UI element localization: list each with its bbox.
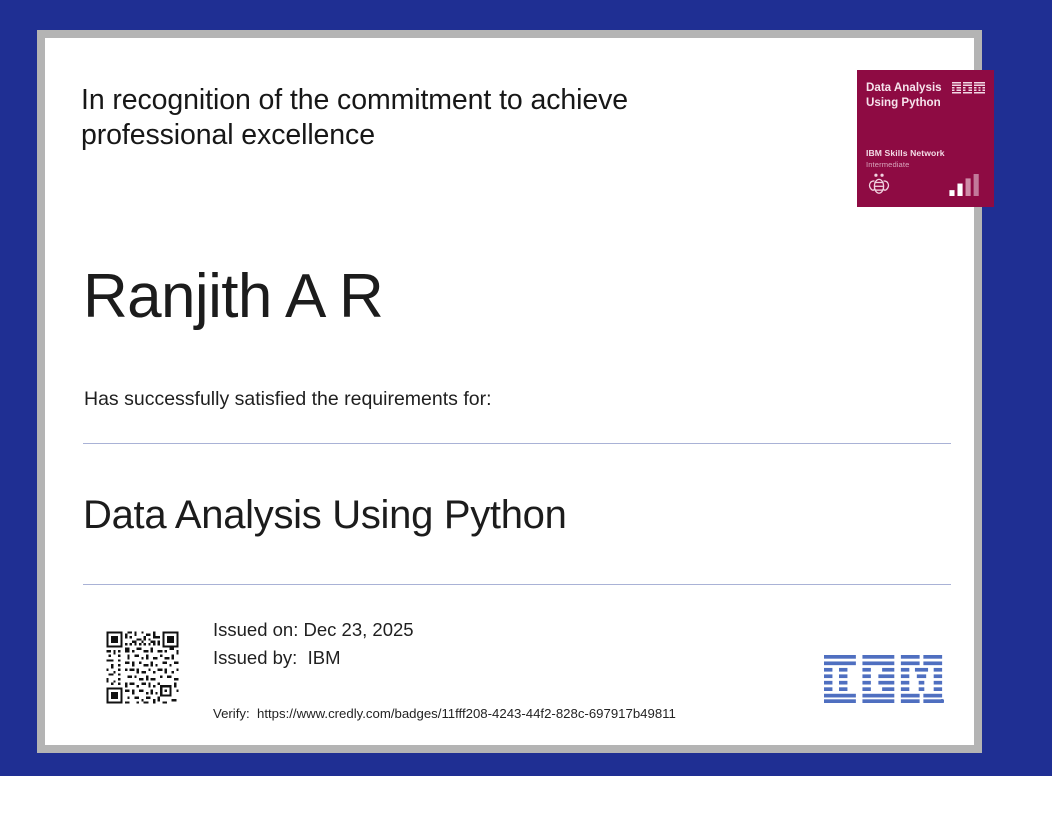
qr-code[interactable] (104, 629, 181, 706)
ibm-logo-icon (952, 82, 985, 95)
course-title: Data Analysis Using Python (83, 493, 567, 537)
issued-on-row: Issued on: Dec 23, 2025 (213, 616, 414, 644)
recipient-name: Ranjith A R (83, 266, 383, 328)
issue-metadata: Issued on: Dec 23, 2025 Issued by: IBM (213, 616, 414, 672)
divider-bottom (83, 584, 951, 585)
certificate-card-inner: In recognition of the commitment to achi… (45, 38, 974, 745)
divider-top (83, 443, 951, 444)
issued-by-row: Issued by: IBM (213, 644, 414, 672)
issued-on-value: Dec 23, 2025 (304, 619, 414, 640)
requirements-statement: Has successfully satisfied the requireme… (84, 388, 492, 411)
verify-label: Verify: (213, 706, 250, 721)
certificate-page: In recognition of the commitment to achi… (0, 0, 1052, 813)
certificate-card: In recognition of the commitment to achi… (37, 30, 982, 753)
badge-title: Data Analysis Using Python (866, 80, 956, 111)
issued-on-label: Issued on: (213, 619, 298, 640)
ibm-logo-icon (824, 655, 944, 703)
badge-level-label: Intermediate (866, 160, 909, 169)
verify-row: Verify: https://www.credly.com/badges/11… (213, 706, 676, 721)
bar-chart-icon (949, 174, 985, 196)
bee-icon (866, 171, 892, 197)
certificate-headline: In recognition of the commitment to achi… (81, 83, 711, 154)
verify-url[interactable]: https://www.credly.com/badges/11fff208-4… (257, 706, 676, 721)
credential-badge: Data Analysis Using Python (857, 70, 994, 207)
issued-by-value: IBM (308, 647, 341, 668)
issued-by-label: Issued by: (213, 647, 297, 668)
badge-network-label: IBM Skills Network (866, 148, 945, 158)
